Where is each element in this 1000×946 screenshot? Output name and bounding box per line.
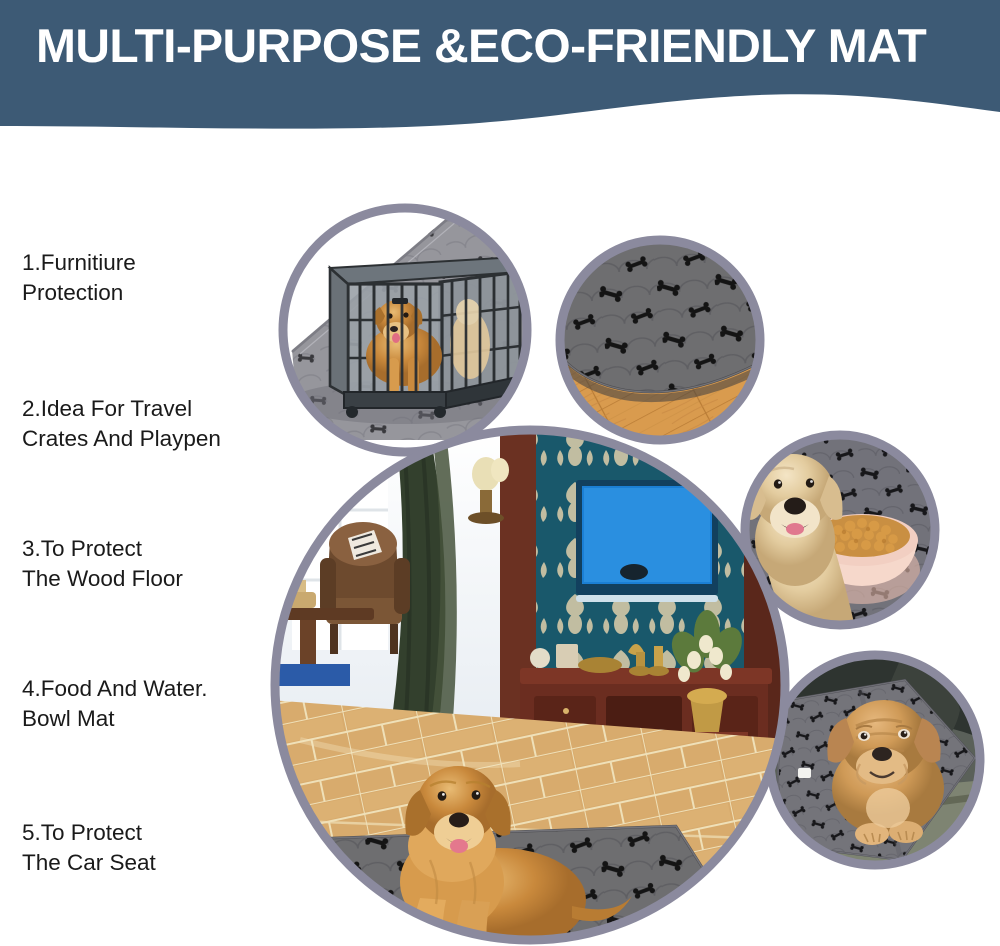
wood-floor-photo	[534, 232, 792, 450]
photo-collage	[0, 140, 1000, 946]
crate-photo	[280, 198, 545, 460]
header-banner: MULTI-PURPOSE &ECO-FRIENDLY MAT	[0, 0, 1000, 140]
car-seat-photo	[756, 650, 985, 875]
product-infographic: MULTI-PURPOSE &ECO-FRIENDLY MAT 1.Furnit…	[0, 0, 1000, 946]
page-title: MULTI-PURPOSE &ECO-FRIENDLY MAT	[36, 19, 995, 73]
living-room-photo	[270, 421, 812, 946]
collage-canvas	[0, 140, 1000, 946]
